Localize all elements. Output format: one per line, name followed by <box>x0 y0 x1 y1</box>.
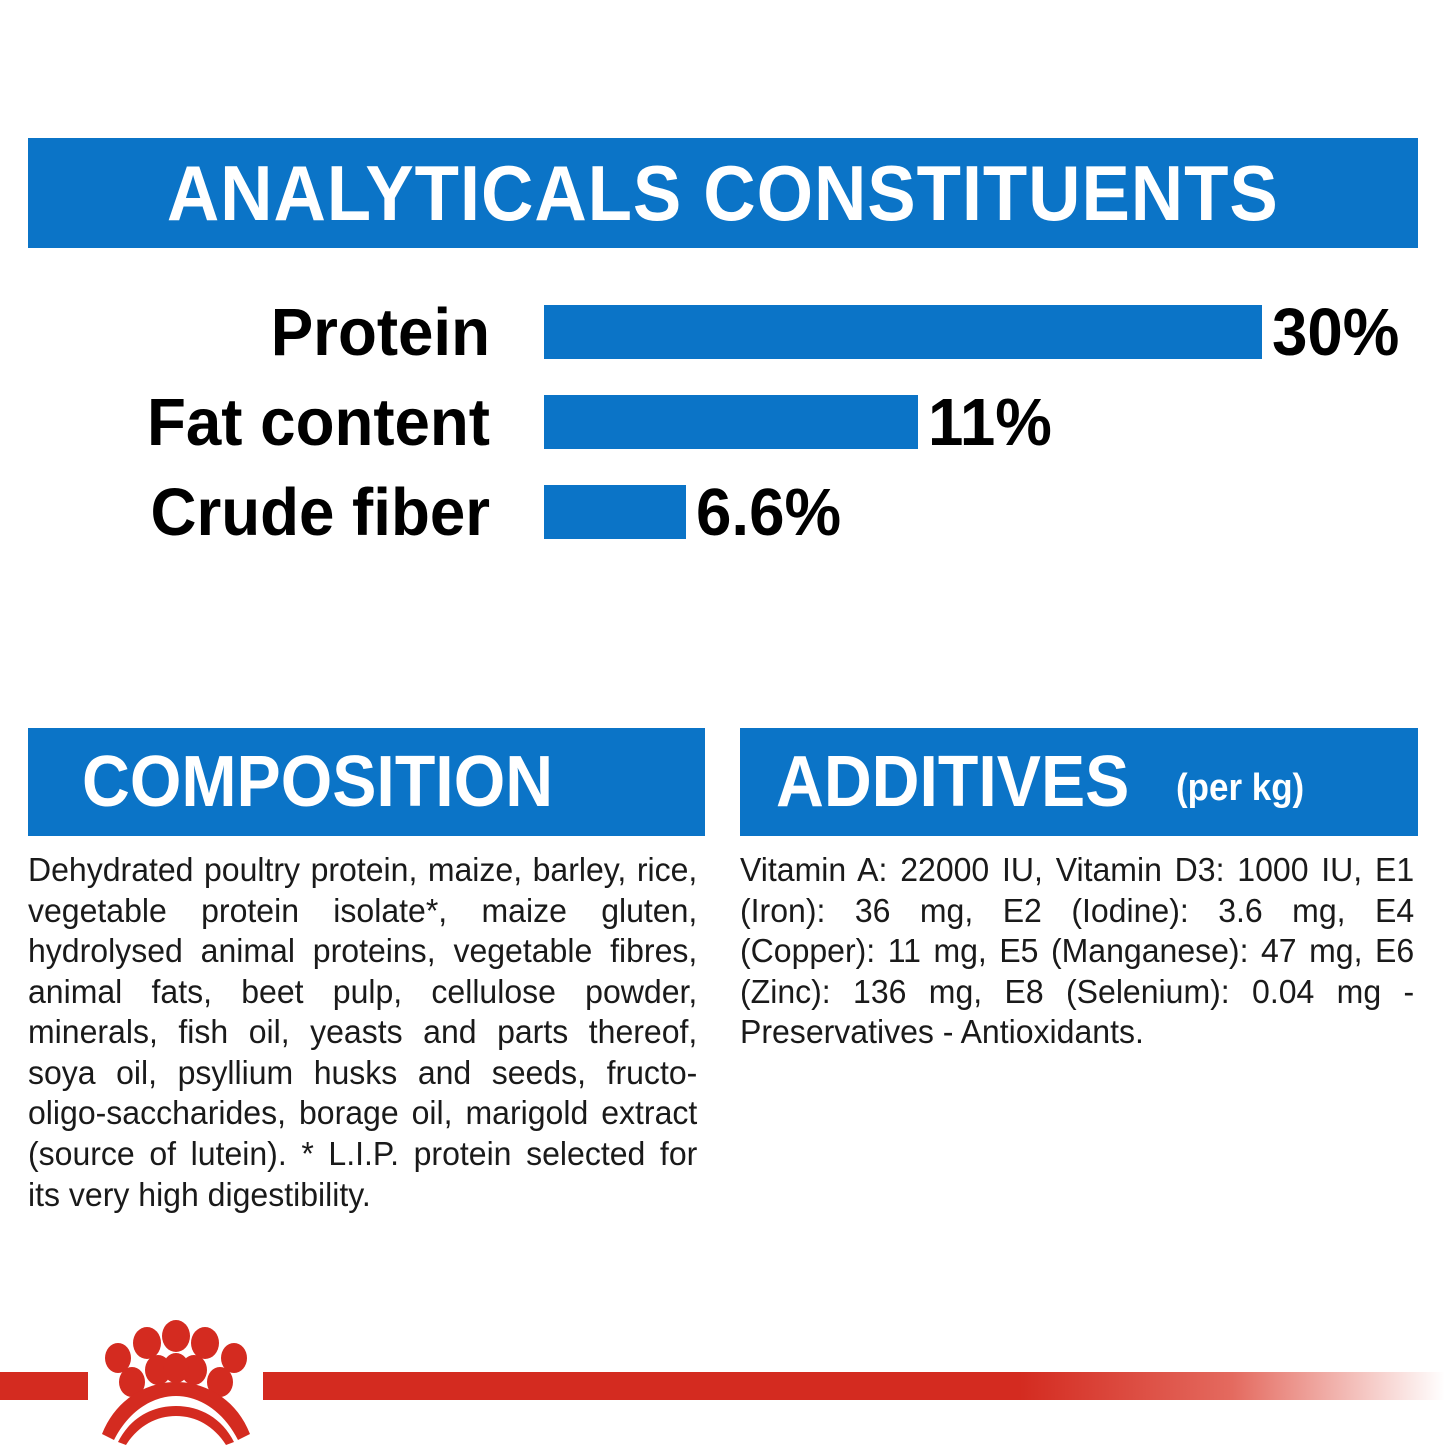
chart-bar-protein <box>544 305 1262 359</box>
chart-bar-crude-fiber <box>544 485 686 539</box>
analyticals-banner-title: ANALYTICALS CONSTITUENTS <box>167 154 1279 232</box>
composition-section: COMPOSITION Dehydrated poultry protein, … <box>28 728 705 1215</box>
additives-body-text: Vitamin A: 22000 IU, Vitamin D3: 1000 IU… <box>740 850 1414 1053</box>
composition-body-text: Dehydrated poultry protein, maize, barle… <box>28 850 697 1215</box>
additives-banner: ADDITIVES (per kg) <box>740 728 1418 836</box>
chart-bar-area: 30% <box>544 299 1406 366</box>
chart-label-fat-content: Fat content <box>25 389 491 456</box>
footer <box>0 1358 1445 1445</box>
chart-value-fat-content: 11% <box>928 389 1052 456</box>
composition-banner: COMPOSITION <box>28 728 705 836</box>
chart-bar-area: 6.6% <box>544 479 849 546</box>
additives-banner-subtitle: (per kg) <box>1176 769 1304 807</box>
chart-row: Fat content 11% <box>0 384 1445 460</box>
chart-row: Crude fiber 6.6% <box>0 474 1445 550</box>
chart-label-protein: Protein <box>25 299 491 366</box>
additives-banner-title: ADDITIVES <box>776 746 1129 818</box>
chart-label-crude-fiber: Crude fiber <box>25 479 491 546</box>
footer-rule-left <box>0 1372 88 1400</box>
composition-banner-title: COMPOSITION <box>82 746 553 818</box>
chart-value-protein: 30% <box>1272 299 1399 366</box>
footer-rule-right <box>263 1372 1445 1400</box>
chart-bar-area: 11% <box>544 389 1058 456</box>
royal-canin-crown-logo <box>88 1320 264 1445</box>
chart-bar-fat-content <box>544 395 918 449</box>
chart-value-crude-fiber: 6.6% <box>696 479 841 546</box>
chart-row: Protein 30% <box>0 294 1445 370</box>
analyticals-banner: ANALYTICALS CONSTITUENTS <box>28 138 1418 248</box>
analyticals-bar-chart: Protein 30% Fat content 11% Crude fiber … <box>0 288 1445 558</box>
additives-section: ADDITIVES (per kg) Vitamin A: 22000 IU, … <box>740 728 1418 1053</box>
